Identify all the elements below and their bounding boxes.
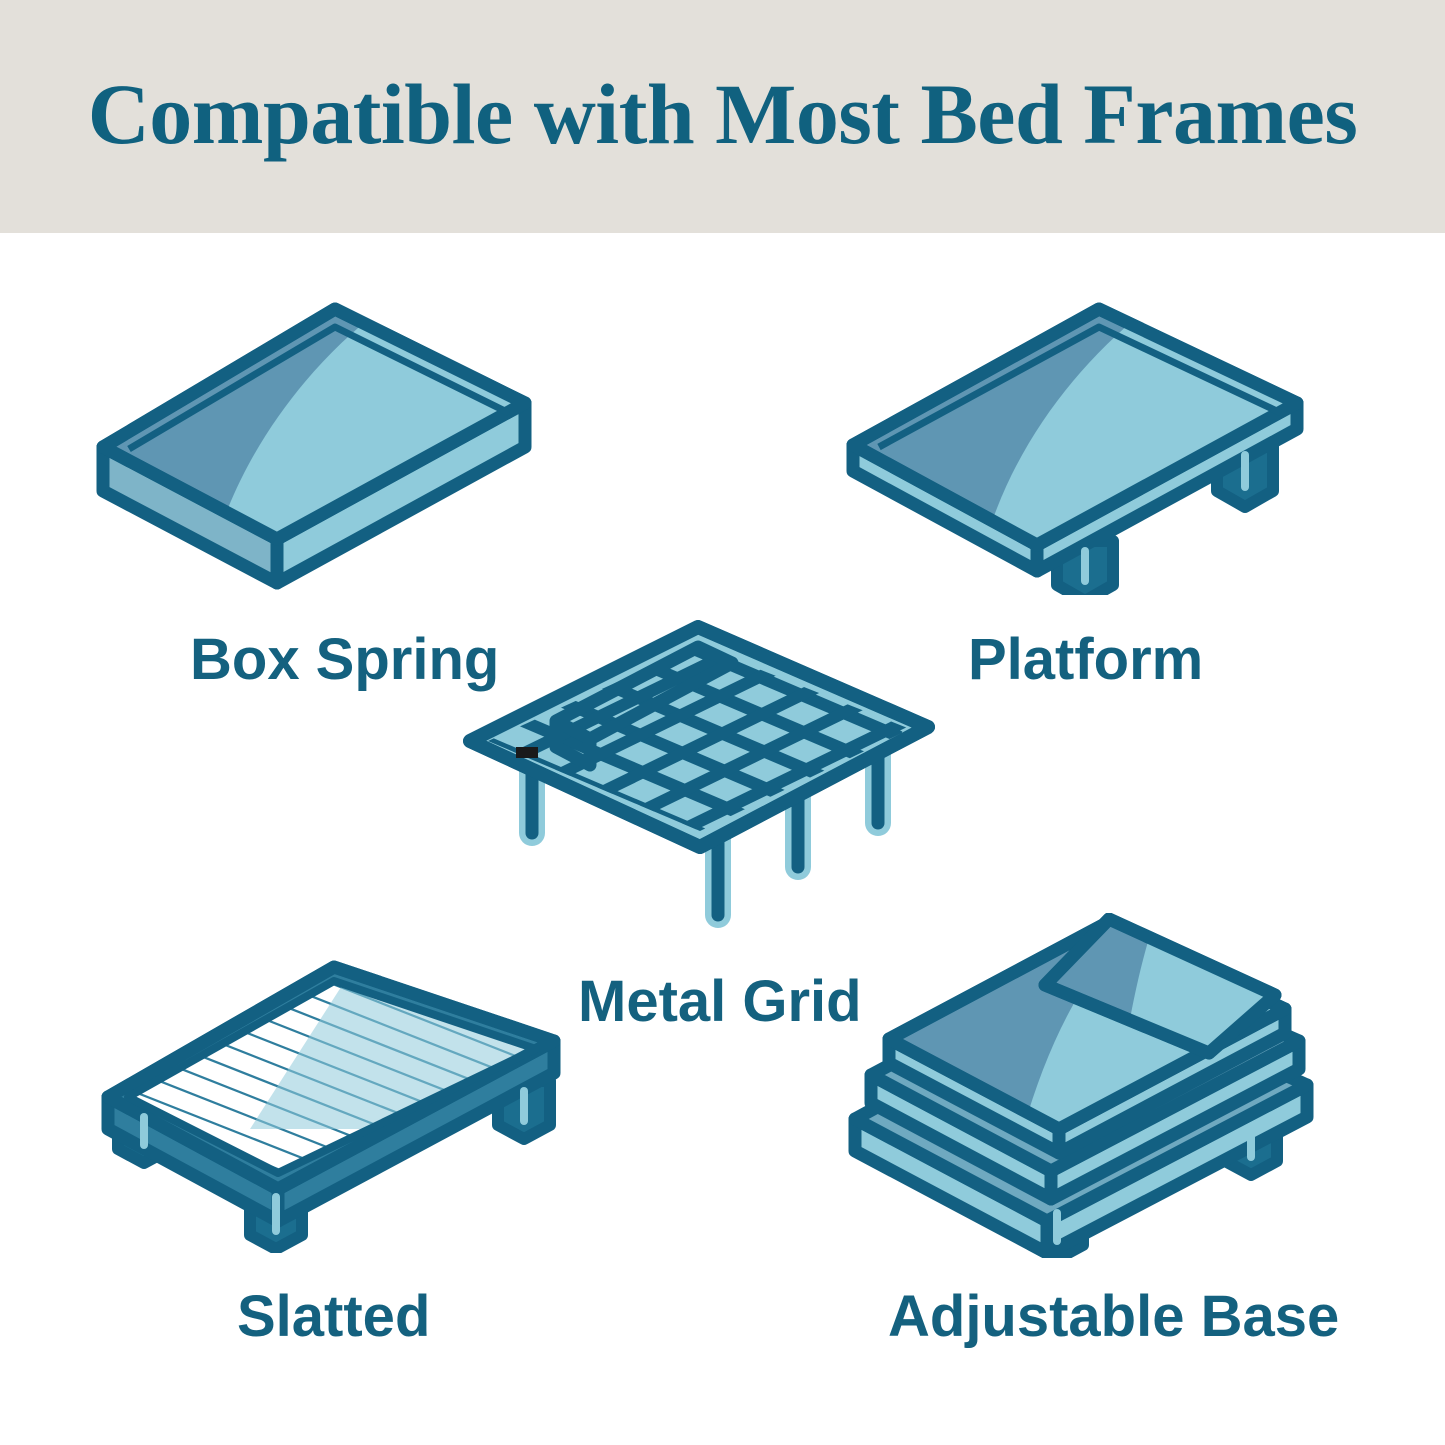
figure-metal-grid bbox=[460, 615, 940, 945]
figure-box-spring bbox=[95, 295, 575, 595]
metal-grid-icon bbox=[460, 615, 940, 945]
figure-slatted bbox=[100, 953, 580, 1253]
illustrations-area: Box Spring Platform Metal Grid Slatted A… bbox=[0, 233, 1445, 1445]
metal-grid-corner-nub bbox=[516, 747, 538, 758]
label-platform: Platform bbox=[968, 631, 1203, 689]
figure-adjustable-base bbox=[845, 913, 1325, 1258]
label-metal-grid: Metal Grid bbox=[578, 973, 862, 1031]
label-box-spring: Box Spring bbox=[190, 631, 499, 689]
header-band: Compatible with Most Bed Frames bbox=[0, 0, 1445, 233]
platform-icon bbox=[845, 295, 1325, 595]
page-title: Compatible with Most Bed Frames bbox=[88, 71, 1358, 163]
slatted-icon bbox=[100, 953, 580, 1253]
adjustable-base-icon bbox=[845, 913, 1325, 1258]
figure-platform bbox=[845, 295, 1325, 595]
infographic-page: Compatible with Most Bed Frames bbox=[0, 0, 1445, 1445]
box-spring-icon bbox=[95, 295, 575, 595]
label-slatted: Slatted bbox=[237, 1288, 430, 1346]
label-adjustable-base: Adjustable Base bbox=[888, 1288, 1339, 1346]
